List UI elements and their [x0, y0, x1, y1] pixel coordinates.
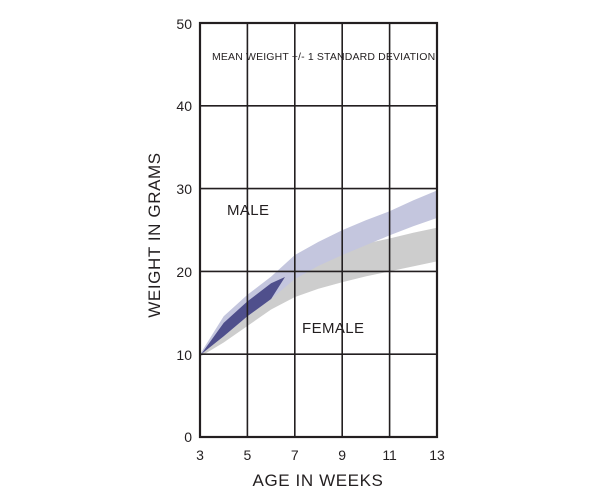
y-tick-40: 40 — [176, 98, 192, 114]
x-tick-11: 11 — [382, 447, 397, 463]
x-tick-7: 7 — [291, 447, 299, 463]
chart-canvas: 50 40 30 20 10 0 3 5 7 9 11 13 AGE IN WE… — [0, 0, 605, 500]
x-tick-5: 5 — [244, 447, 252, 463]
y-tick-10: 10 — [176, 347, 192, 363]
chart-background — [0, 0, 605, 500]
x-tick-3: 3 — [196, 447, 204, 463]
male-series-label: MALE — [227, 202, 269, 219]
x-axis-title: AGE IN WEEKS — [253, 471, 384, 490]
growth-chart: 50 40 30 20 10 0 3 5 7 9 11 13 AGE IN WE… — [0, 0, 605, 500]
y-tick-20: 20 — [176, 264, 192, 280]
y-axis-title: WEIGHT IN GRAMS — [145, 152, 164, 317]
chart-annotation: MEAN WEIGHT +/- 1 STANDARD DEVIATION — [212, 51, 435, 63]
y-tick-0: 0 — [184, 429, 192, 445]
y-tick-30: 30 — [176, 181, 192, 197]
x-tick-13: 13 — [429, 447, 445, 463]
female-series-label: FEMALE — [302, 320, 364, 337]
y-tick-50: 50 — [176, 16, 192, 32]
x-tick-9: 9 — [338, 447, 346, 463]
